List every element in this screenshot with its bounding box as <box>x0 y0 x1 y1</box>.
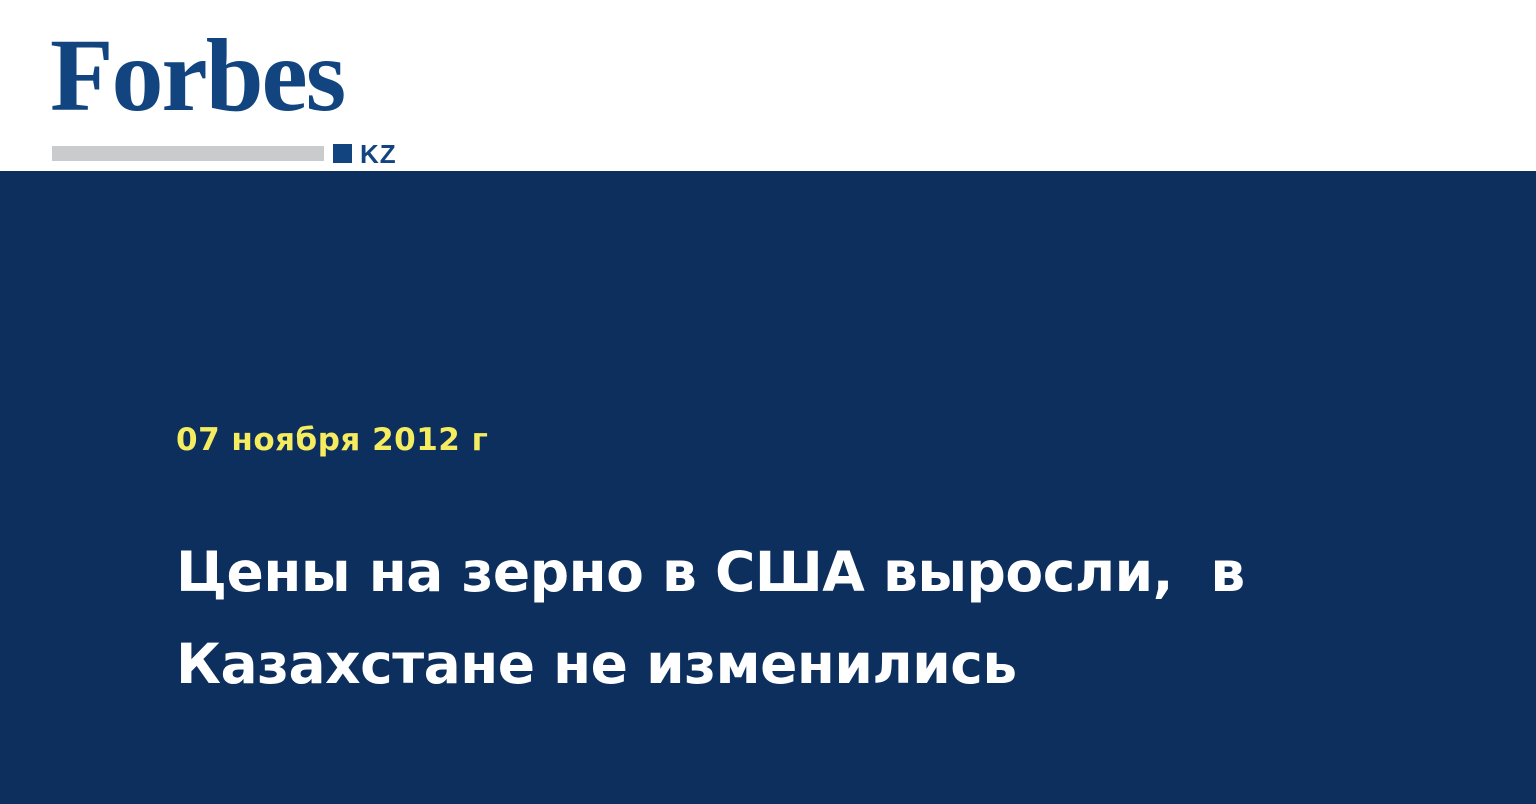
article-hero: 07 ноября 2012 г Цены на зерно в США выр… <box>0 171 1536 804</box>
forbes-kz-logo[interactable]: Forbes KZ <box>50 24 410 144</box>
logo-underbar-divider <box>52 146 324 161</box>
article-hero-page: Forbes KZ 07 ноября 2012 г Цены на зерно… <box>0 0 1536 804</box>
site-header: Forbes KZ <box>0 0 1536 171</box>
article-publish-date: 07 ноября 2012 г <box>176 419 488 461</box>
article-headline: Цены на зерно в США выросли, в Казахстан… <box>176 526 1396 710</box>
forbes-wordmark: Forbes <box>50 24 344 128</box>
navy-square-icon <box>333 144 352 163</box>
logo-kz-suffix: KZ <box>360 141 397 167</box>
